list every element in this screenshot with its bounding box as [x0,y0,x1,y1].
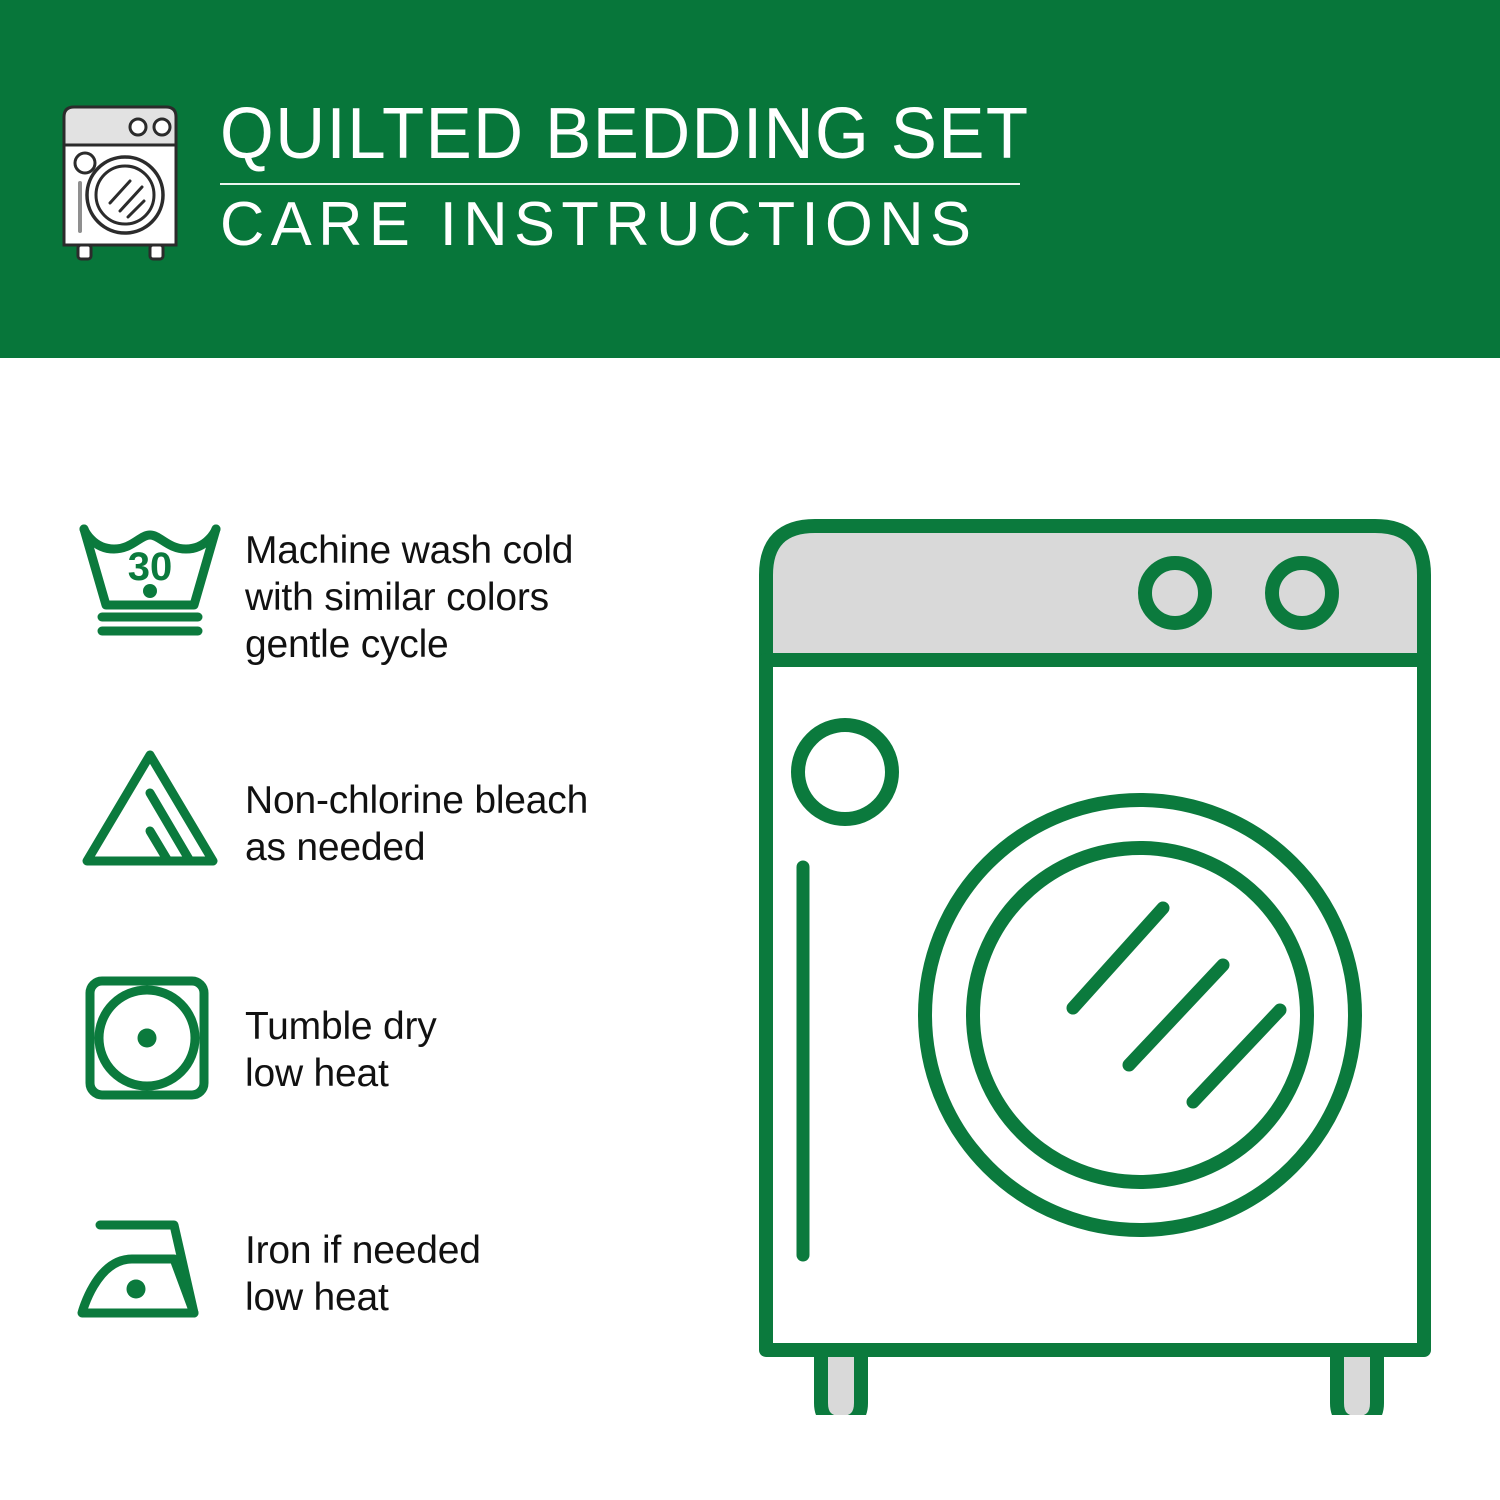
header-content: QUILTED BEDDING SET CARE INSTRUCTIONS [58,95,1058,275]
care-instruction-text: Tumble dry low heat [245,965,710,1097]
front-load-washing-machine-illustration [735,495,1455,1415]
care-instruction-text: Non-chlorine bleach as needed [245,735,710,871]
care-instruction-row: Tumble dry low heat [70,965,710,1195]
washing-machine-icon [58,103,194,261]
wash-temperature-value: 30 [128,545,173,589]
page-title: QUILTED BEDDING SET [220,95,1017,173]
care-instruction-list: 30 Machine wash cold with similar colors… [70,505,710,1425]
care-instruction-text: Iron if needed low heat [245,1195,710,1321]
care-line: gentle cycle [245,621,710,668]
care-line: with similar colors [245,574,710,621]
care-line: low heat [245,1274,710,1321]
care-instruction-row: 30 Machine wash cold with similar colors… [70,505,710,735]
care-line: Non-chlorine bleach [245,777,710,824]
care-instruction-text: Machine wash cold with similar colors ge… [245,505,710,668]
care-instructions-page: QUILTED BEDDING SET CARE INSTRUCTIONS 30 [0,0,1500,1500]
leg-left [821,1350,861,1415]
detergent-dispenser-circle [798,725,892,819]
title-divider [220,183,1020,185]
knob-left [1145,563,1205,623]
care-line: as needed [245,824,710,871]
care-line: Iron if needed [245,1227,710,1274]
wash-tub-30-gentle-icon: 30 [70,505,245,643]
non-chlorine-bleach-triangle-icon [70,735,245,873]
page-subtitle: CARE INSTRUCTIONS [220,189,1042,261]
iron-low-heat-icon [70,1195,245,1333]
leg-right [1337,1350,1377,1415]
header-titles: QUILTED BEDDING SET CARE INSTRUCTIONS [220,95,1050,261]
door-inner-ring [973,848,1307,1182]
care-line: Tumble dry [245,1003,710,1050]
care-line: Machine wash cold [245,527,710,574]
tumble-dry-low-icon [70,965,245,1103]
care-line: low heat [245,1050,710,1097]
care-instruction-row: Iron if needed low heat [70,1195,710,1425]
header-banner: QUILTED BEDDING SET CARE INSTRUCTIONS [0,0,1500,358]
knob-right [1272,563,1332,623]
care-instruction-row: Non-chlorine bleach as needed [70,735,710,965]
